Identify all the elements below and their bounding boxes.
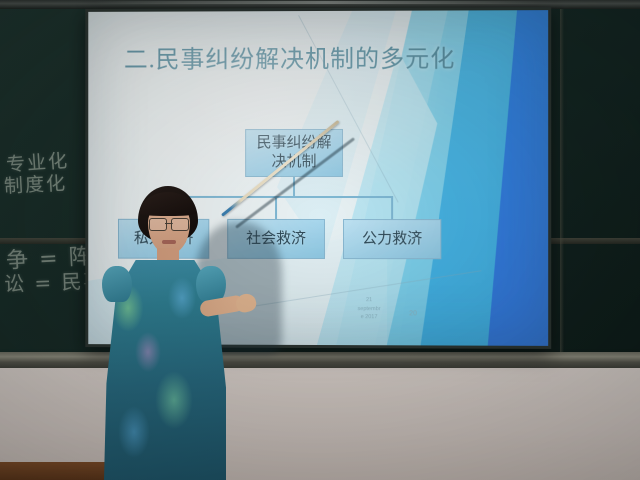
slide-page-number: 20 [409,310,417,317]
glasses-lens-right [171,218,189,231]
chalk-note-2: 制度化 [3,168,67,198]
slide-footer-date: 21 septembr e 2017 [340,296,398,321]
presenter-sleeve-right [196,266,226,302]
glasses-lens-left [149,218,167,231]
footer-date-line1: 21 [366,297,372,303]
slide-title: 二.民事纠纷解决机制的多元化 [124,39,456,75]
presenter [104,186,226,480]
blackboard-edge [560,8,564,354]
footer-date-line3: e 2017 [361,314,378,320]
chart-node-root: 民事纠纷解 决机制 [245,129,343,177]
glasses-icon [149,218,189,229]
trim-highlight [95,1,555,4]
chart-connector-drop-3 [391,196,393,219]
presenter-mouth [162,240,176,244]
presenter-sleeve-left [102,266,132,302]
classroom-photo: 专业化 制度化 争 = 阵制 讼 = 民事诉 二.民事纠纷解决机制的多元化 民事… [0,0,640,480]
chalk-rail [0,352,640,369]
chart-node-leaf-3: 公力救济 [343,219,441,259]
footer-date-line2: septembr [358,306,381,312]
